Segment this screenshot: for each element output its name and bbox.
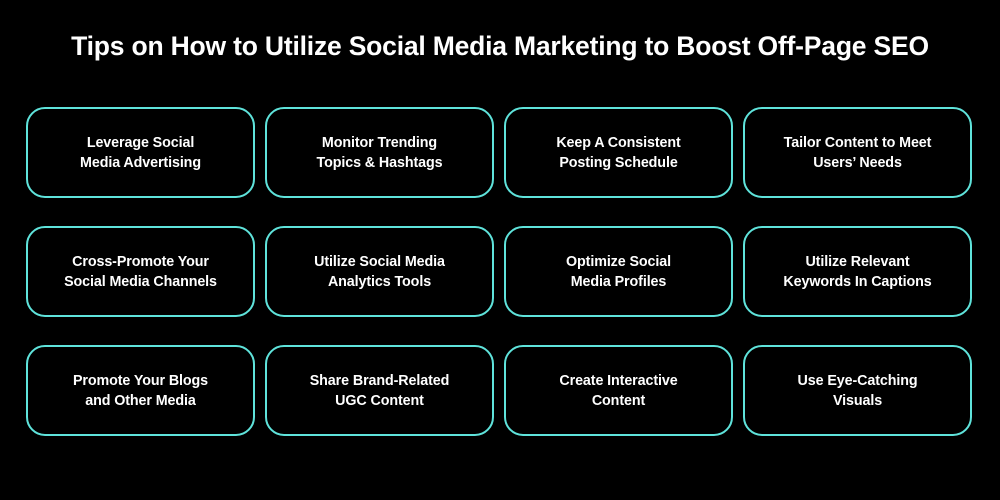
tip-card-label: Utilize Social Media Analytics Tools xyxy=(314,252,445,292)
tip-card-label: Create Interactive Content xyxy=(559,371,677,411)
tip-card-use-eye-catching-visuals[interactable]: Use Eye-Catching Visuals xyxy=(743,345,972,436)
tip-card-label: Promote Your Blogs and Other Media xyxy=(73,371,208,411)
tip-card-label: Utilize Relevant Keywords In Captions xyxy=(783,252,931,292)
tip-card-keep-a-consistent-posting-schedule[interactable]: Keep A Consistent Posting Schedule xyxy=(504,107,733,198)
tip-card-create-interactive-content[interactable]: Create Interactive Content xyxy=(504,345,733,436)
tip-card-label: Use Eye-Catching Visuals xyxy=(798,371,918,411)
tip-card-label: Share Brand-Related UGC Content xyxy=(310,371,450,411)
tip-card-label: Monitor Trending Topics & Hashtags xyxy=(317,133,443,173)
tip-card-label: Cross-Promote Your Social Media Channels xyxy=(64,252,217,292)
tip-card-label: Leverage Social Media Advertising xyxy=(80,133,201,173)
tip-card-share-brand-related-ugc-content[interactable]: Share Brand-Related UGC Content xyxy=(265,345,494,436)
tip-card-utilize-social-media-analytics-tools[interactable]: Utilize Social Media Analytics Tools xyxy=(265,226,494,317)
tip-card-label: Tailor Content to Meet Users’ Needs xyxy=(784,133,932,173)
tips-card-grid: Leverage Social Media Advertising Monito… xyxy=(26,107,972,438)
tip-card-leverage-social-media-advertising[interactable]: Leverage Social Media Advertising xyxy=(26,107,255,198)
infographic-canvas: Tips on How to Utilize Social Media Mark… xyxy=(0,0,1000,500)
tip-card-promote-your-blogs-and-other-media[interactable]: Promote Your Blogs and Other Media xyxy=(26,345,255,436)
tip-card-tailor-content-to-meet-users-needs[interactable]: Tailor Content to Meet Users’ Needs xyxy=(743,107,972,198)
tip-card-optimize-social-media-profiles[interactable]: Optimize Social Media Profiles xyxy=(504,226,733,317)
tip-card-cross-promote-your-social-media-channels[interactable]: Cross-Promote Your Social Media Channels xyxy=(26,226,255,317)
tip-card-label: Optimize Social Media Profiles xyxy=(566,252,671,292)
tip-card-monitor-trending-topics-hashtags[interactable]: Monitor Trending Topics & Hashtags xyxy=(265,107,494,198)
tip-card-label: Keep A Consistent Posting Schedule xyxy=(556,133,680,173)
tip-card-utilize-relevant-keywords-in-captions[interactable]: Utilize Relevant Keywords In Captions xyxy=(743,226,972,317)
page-title: Tips on How to Utilize Social Media Mark… xyxy=(0,29,1000,63)
